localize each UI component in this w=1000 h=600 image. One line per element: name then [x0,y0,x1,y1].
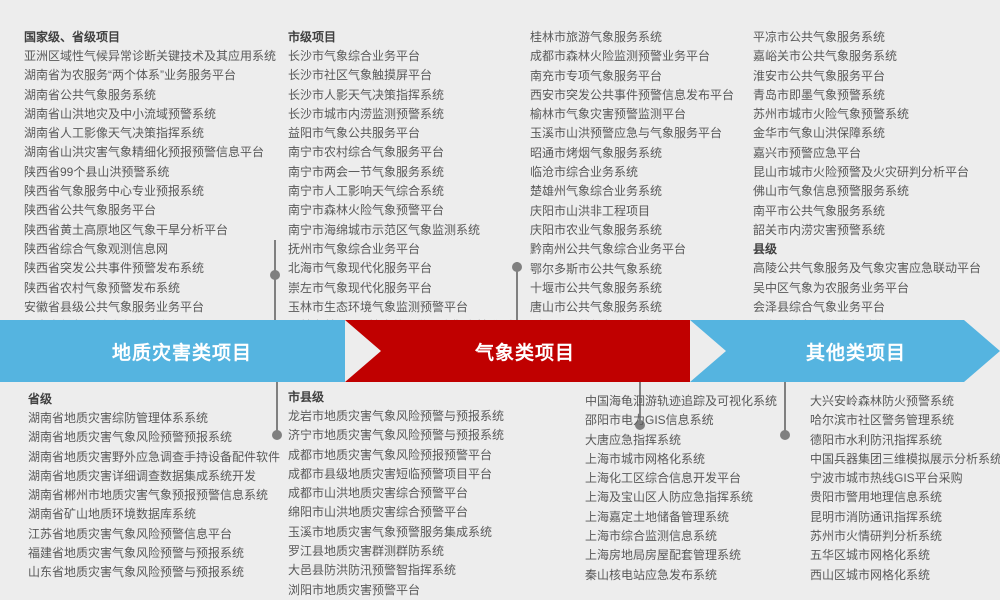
list-item: 贵阳市警用地理信息系统 [810,488,1000,507]
list-item: 玉溪市地质灾害气象预警服务集成系统 [288,523,538,542]
list-item: 上海化工区综合信息开发平台 [585,469,810,488]
list-item: 湖南省地质灾害气象风险预警预报系统 [28,428,273,447]
list-item: 嘉兴市预警应急平台 [753,144,983,163]
bottom-column-other-1: 中国海龟洄游轨迹追踪及可视化系统邵阳市电力GIS信息系统大唐应急指挥系统上海市城… [585,392,810,585]
list-item: 德阳市水利防汛指挥系统 [810,431,1000,450]
list-item: 金华市气象山洪保障系统 [753,124,983,143]
list-item: 长沙市城市内涝监测预警系统 [288,105,518,124]
list-item: 济宁市地质灾害气象风险预警与预报系统 [288,426,538,445]
list-item: 楚雄州气象综合业务系统 [530,182,745,201]
list-item: 湖南省山洪地灾及中小流域预警系统 [24,105,274,124]
list-item: 中国兵器集团三维模拟展示分析系统 [810,450,1000,469]
list-item: 成都市县级地质灾害短临预警项目平台 [288,465,538,484]
list-item: 上海嘉定土地储备管理系统 [585,508,810,527]
list-item: 陕西省气象服务中心专业预报系统 [24,182,274,201]
list-item: 大兴安岭森林防火预警系统 [810,392,1000,411]
bottom-col2-heading: 市县级 [288,388,538,407]
list-item: 湖南省地质灾害综防管理体系系统 [28,409,273,428]
list-item: 南平市公共气象服务系统 [753,202,983,221]
list-item: 玉林市生态环境气象监测预警平台 [288,298,518,317]
list-item: 西安市突发公共事件预警信息发布平台 [530,86,745,105]
list-item: 南宁市海绵城市示范区气象监测系统 [288,221,518,240]
list-item: 北海市气象现代化服务平台 [288,259,518,278]
list-item: 榆林市气象灾害预警监测平台 [530,105,745,124]
bottom-column-provincial: 省级 湖南省地质灾害综防管理体系系统湖南省地质灾害气象风险预警预报系统湖南省地质… [28,390,273,583]
list-item: 苏州市城市火险气象预警系统 [753,105,983,124]
list-item: 龙岩市地质灾害气象风险预警与预报系统 [288,407,538,426]
list-item: 亚洲区域性气候异常诊断关键技术及其应用系统 [24,47,274,66]
list-item: 嘉峪关市公共气象服务系统 [753,47,983,66]
list-item: 陕西省黄土高原地区气象干旱分析平台 [24,221,274,240]
list-item: 唐山市公共气象服务系统 [530,298,745,317]
banner-label-meteorological: 气象类项目 [475,338,575,365]
list-item: 江苏省地质灾害气象风险预警信息平台 [28,525,273,544]
list-item: 临沧市综合业务系统 [530,163,745,182]
list-item: 抚州市气象综合业务平台 [288,240,518,259]
infographic-root: 国家级、省级项目 亚洲区域性气候异常诊断关键技术及其应用系统湖南省为农服务“两个… [0,0,1000,564]
list-item: 桂林市旅游气象服务系统 [530,28,745,47]
bottom-column-other-2: 大兴安岭森林防火预警系统哈尔滨市社区警务管理系统德阳市水利防汛指挥系统中国兵器集… [810,392,1000,585]
list-item: 湖南省公共气象服务系统 [24,86,274,105]
list-item: 安徽省县级公共气象服务业务平台 [24,298,274,317]
list-item: 绵阳市山洪地质灾害综合预警平台 [288,503,538,522]
list-item: 淮安市公共气象服务平台 [753,67,983,86]
list-item: 邵阳市电力GIS信息系统 [585,411,810,430]
list-item: 南宁市人工影响天气综合系统 [288,182,518,201]
list-item: 益阳市气象公共服务平台 [288,124,518,143]
banner-segment-geological[interactable]: 地质灾害类项目 [0,320,385,382]
list-item: 上海房地局房屋配套管理系统 [585,546,810,565]
list-item: 湖南省地质灾害详细调查数据集成系统开发 [28,467,273,486]
list-item: 湖南省人工影像天气决策指挥系统 [24,124,274,143]
list-item: 大邑县防洪防汛预警智指挥系统 [288,561,538,580]
list-item: 崇左市气象现代化服务平台 [288,279,518,298]
list-item: 大唐应急指挥系统 [585,431,810,450]
list-item: 陕西省突发公共事件预警发布系统 [24,259,274,278]
list-item: 昆山市城市火险预警及火灾研判分析平台 [753,163,983,182]
list-item: 成都市森林火险监测预警业务平台 [530,47,745,66]
list-item: 玉溪市山洪预警应急与气象服务平台 [530,124,745,143]
list-item: 五华区城市网格化系统 [810,546,1000,565]
list-item: 秦山核电站应急发布系统 [585,566,810,585]
list-item: 上海市城市网格化系统 [585,450,810,469]
list-item: 陕西省农村气象预警发布系统 [24,279,274,298]
top-col1-heading: 国家级、省级项目 [24,28,274,47]
list-item: 长沙市人影天气决策指挥系统 [288,86,518,105]
list-item: 南宁市两会一节气象服务系统 [288,163,518,182]
list-item: 青岛市即墨气象预警系统 [753,86,983,105]
list-item: 南宁市森林火险气象预警平台 [288,201,518,220]
list-item: 福建省地质灾害气象风险预警与预报系统 [28,544,273,563]
list-item: 哈尔滨市社区警务管理系统 [810,411,1000,430]
banner-label-geological: 地质灾害类项目 [112,338,252,365]
list-item: 庆阳市山洪非工程项目 [530,202,745,221]
list-item: 苏州市火情研判分析系统 [810,527,1000,546]
list-item: 鄂尔多斯市公共气象系统 [530,260,745,279]
list-item: 西山区城市网格化系统 [810,566,1000,585]
banner-label-other: 其他类项目 [806,338,906,365]
list-item: 宁波市城市热线GIS平台采购 [810,469,1000,488]
bottom-col1-heading: 省级 [28,390,273,409]
top-column-city-county: 平凉市公共气象服务系统嘉峪关市公共气象服务系统淮安市公共气象服务平台青岛市即墨气… [753,28,983,356]
list-item: 陕西省99个县山洪预警系统 [24,163,274,182]
list-item: 长沙市气象综合业务平台 [288,47,518,66]
top-col4-heading2: 县级 [753,240,983,259]
banner-segment-other[interactable]: 其他类项目 [690,320,964,382]
bottom-col3-list: 中国海龟洄游轨迹追踪及可视化系统邵阳市电力GIS信息系统大唐应急指挥系统上海市城… [585,392,810,585]
bottom-col2-list: 龙岩市地质灾害气象风险预警与预报系统济宁市地质灾害气象风险预警与预报系统成都市地… [288,407,538,600]
list-item: 庆阳市农业气象服务系统 [530,221,745,240]
list-item: 上海及宝山区人防应急指挥系统 [585,488,810,507]
list-item: 会泽县综合气象业务平台 [753,298,983,317]
list-item: 陕西省综合气象观测信息网 [24,240,274,259]
list-item: 南充市专项气象服务平台 [530,67,745,86]
banner-segment-meteorological[interactable]: 气象类项目 [345,320,730,382]
list-item: 罗江县地质灾害群测群防系统 [288,542,538,561]
list-item: 昆明市消防通讯指挥系统 [810,508,1000,527]
list-item: 中国海龟洄游轨迹追踪及可视化系统 [585,392,810,411]
list-item: 韶关市内涝灾害预警系统 [753,221,983,240]
bottom-col1-list: 湖南省地质灾害综防管理体系系统湖南省地质灾害气象风险预警预报系统湖南省地质灾害野… [28,409,273,583]
list-item: 湖南省地质灾害野外应急调查手持设备配件软件 [28,448,273,467]
top-col4-list: 平凉市公共气象服务系统嘉峪关市公共气象服务系统淮安市公共气象服务平台青岛市即墨气… [753,28,983,240]
list-item: 十堰市公共气象服务系统 [530,279,745,298]
list-item: 湖南省矿山地质环境数据库系统 [28,505,273,524]
bottom-col4-list: 大兴安岭森林防火预警系统哈尔滨市社区警务管理系统德阳市水利防汛指挥系统中国兵器集… [810,392,1000,585]
list-item: 湖南省郴州市地质灾害气象预报预警信息系统 [28,486,273,505]
list-item: 上海市综合监测信息系统 [585,527,810,546]
process-banner: 地质灾害类项目 气象类项目 其他类项目 [0,320,1000,382]
list-item: 湖南省山洪灾害气象精细化预报预警信息平台 [24,143,274,162]
list-item: 山东省地质灾害气象风险预警与预报系统 [28,563,273,582]
list-item: 黔南州公共气象综合业务平台 [530,240,745,259]
bottom-column-city-county: 市县级 龙岩市地质灾害气象风险预警与预报系统济宁市地质灾害气象风险预警与预报系统… [288,388,538,600]
list-item: 佛山市气象信息预警服务系统 [753,182,983,201]
list-item: 昭通市烤烟气象服务系统 [530,144,745,163]
list-item: 陕西省公共气象服务平台 [24,201,274,220]
list-item: 长沙市社区气象触摸屏平台 [288,66,518,85]
list-item: 平凉市公共气象服务系统 [753,28,983,47]
top-col2-heading: 市级项目 [288,28,518,47]
list-item: 成都市地质灾害气象风险预报预警平台 [288,446,538,465]
list-item: 南宁市农村综合气象服务平台 [288,143,518,162]
list-item: 吴中区气象为农服务业务平台 [753,279,983,298]
list-item: 高陵公共气象服务及气象灾害应急联动平台 [753,259,983,278]
list-item: 浏阳市地质灾害预警平台 [288,581,538,600]
list-item: 成都市山洪地质灾害综合预警平台 [288,484,538,503]
list-item: 湖南省为农服务“两个体系”业务服务平台 [24,66,274,85]
